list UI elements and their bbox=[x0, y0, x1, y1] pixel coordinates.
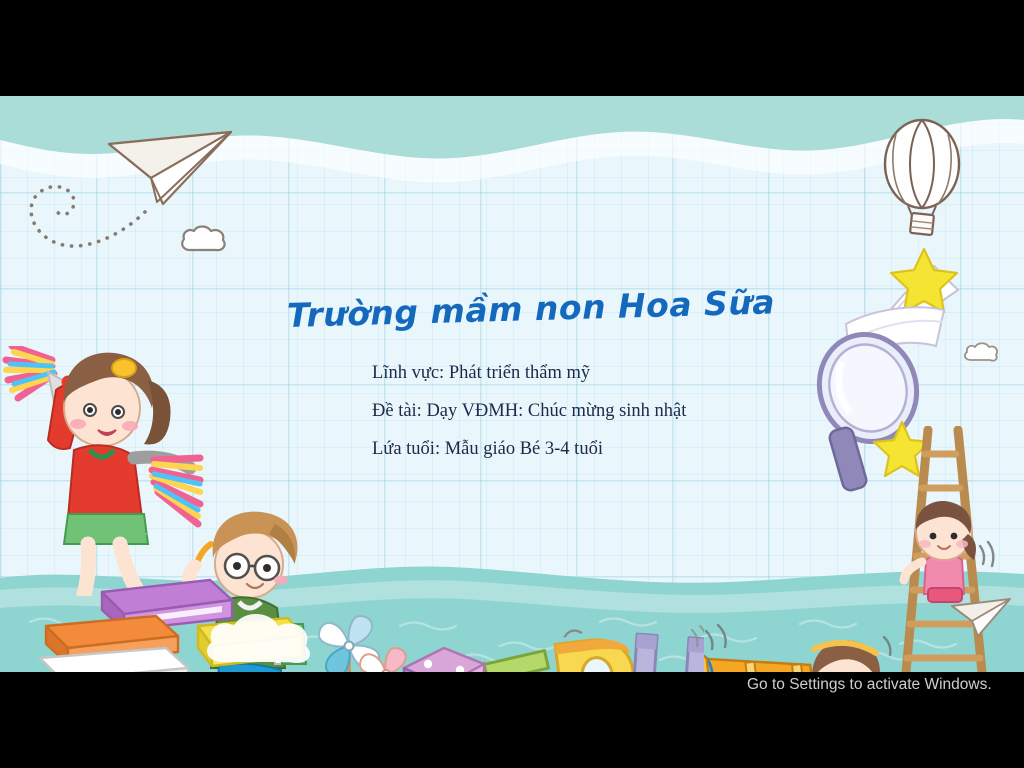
cloud-doodle-icon bbox=[200, 606, 320, 670]
slide-canvas[interactable]: Trường mầm non Hoa Sữa Lĩnh vực: Phát tr… bbox=[0, 96, 1024, 672]
girl-on-ladder-illustration bbox=[892, 496, 1002, 606]
paper-airplane-icon bbox=[950, 596, 1012, 638]
cloud-doodle-icon bbox=[178, 223, 230, 257]
dice-icon bbox=[398, 636, 516, 672]
presentation-window: Trường mầm non Hoa Sữa Lĩnh vực: Phát tr… bbox=[0, 0, 1024, 768]
info-line-topic: Đề tài: Dạy VĐMH: Chúc mừng sinh nhật bbox=[372, 392, 802, 430]
girl-with-telescope-illustration bbox=[694, 621, 894, 672]
paper-airplane-icon bbox=[105, 126, 235, 208]
slide-info-block: Lĩnh vực: Phát triển thẩm mỹ Đề tài: Dạy… bbox=[372, 354, 802, 468]
info-line-field: Lĩnh vực: Phát triển thẩm mỹ bbox=[372, 354, 802, 392]
edu-letters-illustration bbox=[484, 624, 704, 672]
hot-air-balloon-icon bbox=[880, 116, 964, 251]
windows-activation-subtitle: Go to Settings to activate Windows. bbox=[747, 676, 992, 694]
info-line-age: Lứa tuổi: Mẫu giáo Bé 3-4 tuổi bbox=[372, 430, 802, 468]
